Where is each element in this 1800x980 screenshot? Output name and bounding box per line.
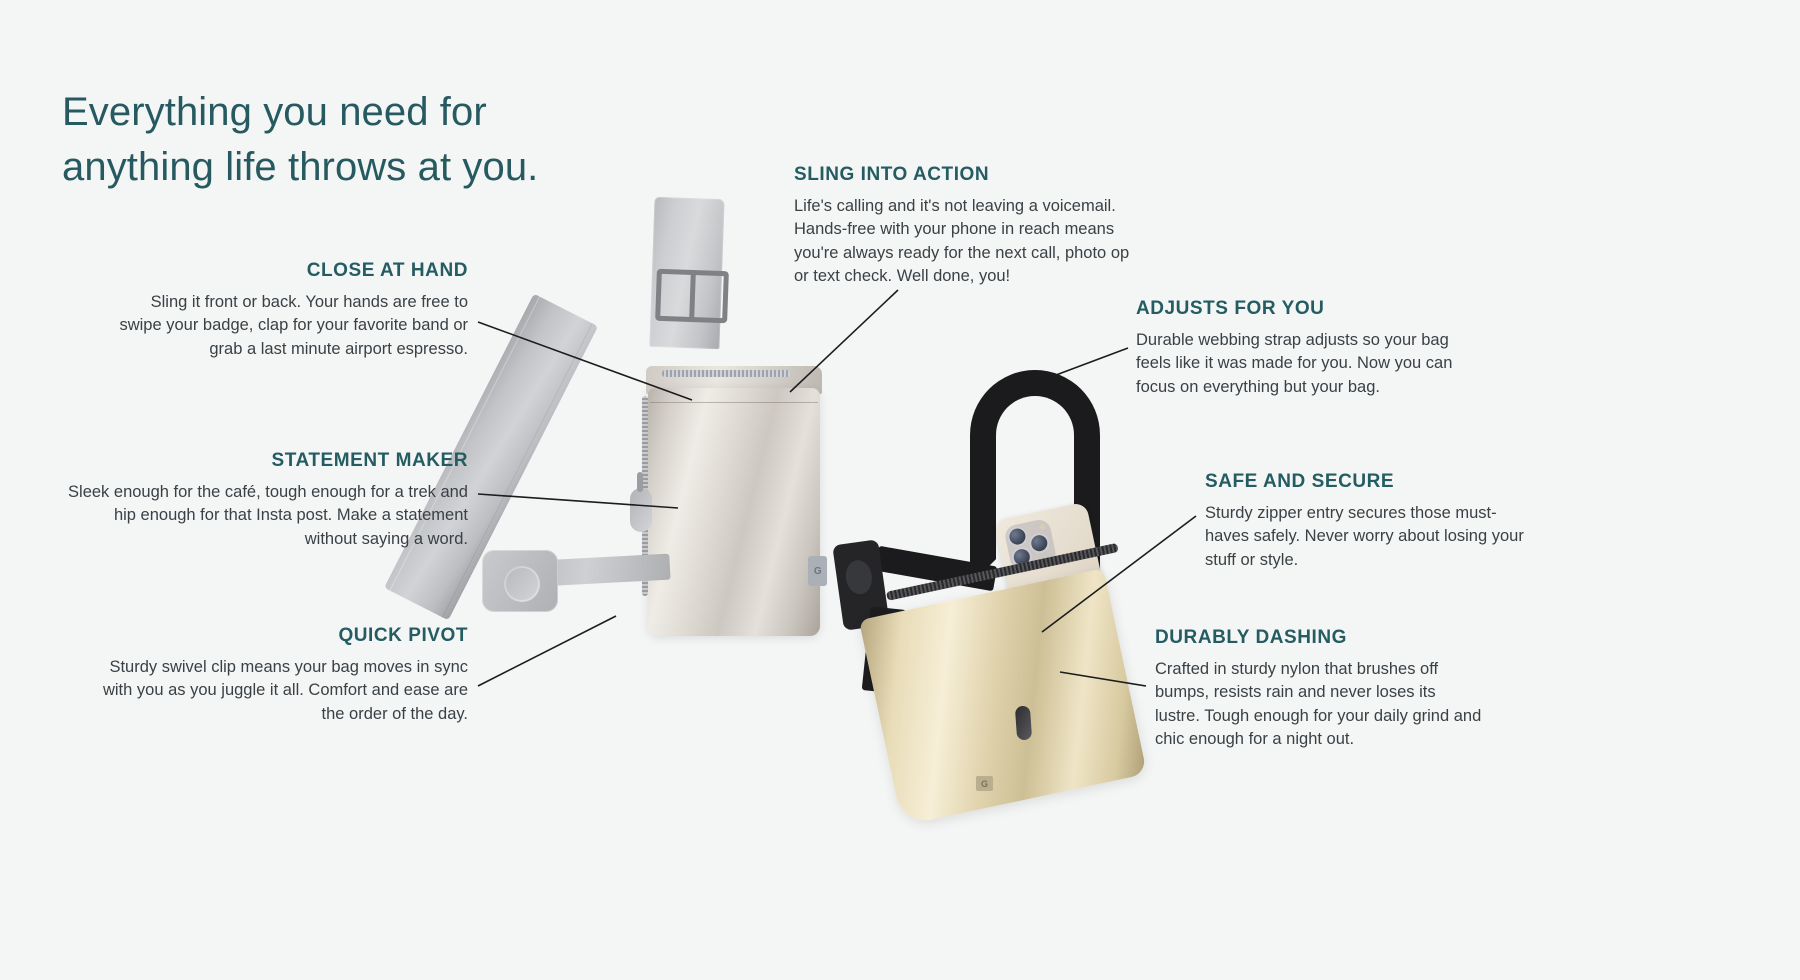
callout-body-close-at-hand: Sling it front or back. Your hands are f…	[108, 291, 468, 361]
callout-safe-and-secure: SAFE AND SECURE Sturdy zipper entry secu…	[1205, 471, 1525, 572]
camera-lens-icon	[1030, 534, 1049, 553]
camera-lens-icon	[1008, 527, 1027, 546]
silver-top-zipper	[662, 370, 790, 377]
silver-strap-adjuster-buckle	[655, 269, 729, 323]
gold-zipper-pull	[1015, 706, 1032, 741]
silver-swivel-clip	[482, 550, 558, 612]
callout-title-close-at-hand: CLOSE AT HAND	[108, 260, 468, 282]
gold-brand-logo-tag: G	[976, 776, 993, 791]
silver-bag-body	[648, 388, 820, 636]
callout-statement-maker: STATEMENT MAKER Sleek enough for the caf…	[60, 450, 468, 551]
callout-durably-dashing: DURABLY DASHING Crafted in sturdy nylon …	[1155, 627, 1485, 752]
callout-quick-pivot: QUICK PIVOT Sturdy swivel clip means you…	[98, 625, 468, 726]
callout-title-statement-maker: STATEMENT MAKER	[60, 450, 468, 472]
headline-line-1: Everything you need for	[62, 90, 487, 134]
callout-title-durably-dashing: DURABLY DASHING	[1155, 627, 1485, 649]
callout-close-at-hand: CLOSE AT HAND Sling it front or back. Yo…	[108, 260, 468, 361]
callout-body-quick-pivot: Sturdy swivel clip means your bag moves …	[98, 656, 468, 726]
gold-bag-body	[859, 568, 1147, 825]
headline-line-2: anything life throws at you.	[62, 140, 822, 195]
callout-title-safe-and-secure: SAFE AND SECURE	[1205, 471, 1525, 493]
callout-body-durably-dashing: Crafted in sturdy nylon that brushes off…	[1155, 658, 1485, 752]
callout-body-sling-into-action: Life's calling and it's not leaving a vo…	[794, 195, 1144, 289]
product-image-gold-belt-bag: G	[830, 370, 1170, 810]
callout-body-safe-and-secure: Sturdy zipper entry secures those must-h…	[1205, 502, 1525, 572]
callout-body-adjusts-for-you: Durable webbing strap adjusts so your ba…	[1136, 329, 1476, 399]
silver-brand-logo-tag: G	[808, 556, 827, 586]
callout-title-adjusts-for-you: ADJUSTS FOR YOU	[1136, 298, 1476, 320]
page-title: Everything you need for anything life th…	[62, 85, 822, 195]
silver-zipper-pull	[630, 488, 652, 532]
callout-title-sling-into-action: SLING INTO ACTION	[794, 164, 1144, 186]
callout-body-statement-maker: Sleek enough for the café, tough enough …	[60, 481, 468, 551]
callout-title-quick-pivot: QUICK PIVOT	[98, 625, 468, 647]
callout-adjusts-for-you: ADJUSTS FOR YOU Durable webbing strap ad…	[1136, 298, 1476, 399]
callout-sling-into-action: SLING INTO ACTION Life's calling and it'…	[794, 164, 1144, 289]
infographic-canvas: Everything you need for anything life th…	[0, 0, 1800, 980]
